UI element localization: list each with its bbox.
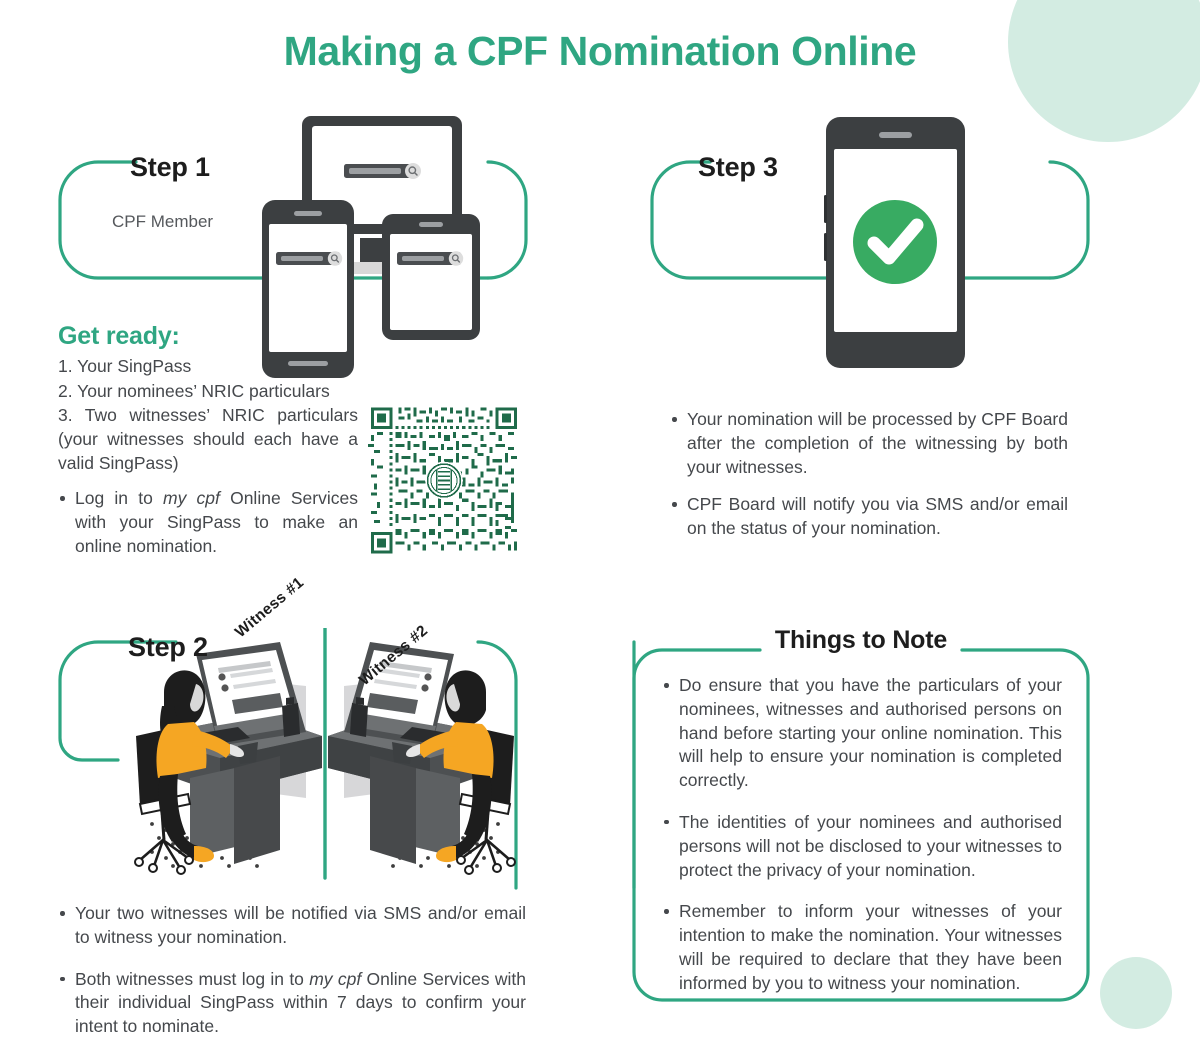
note-bullet-3: Remember to inform your witnesses of you… xyxy=(662,900,1062,995)
mycpf-brand-2: my cpf xyxy=(309,969,361,989)
step2-witnesses-illustration xyxy=(110,628,540,890)
things-to-note-bullets: Do ensure that you have the particulars … xyxy=(662,674,1062,996)
get-ready-item-2: 2. Your nominees’ NRIC particulars xyxy=(58,380,358,404)
get-ready-item-1: 1. Your SingPass xyxy=(58,355,358,379)
step1-sublabel: CPF Member xyxy=(112,212,213,232)
step2-label: Step 2 xyxy=(128,632,208,663)
step3-bullet-2: CPF Board will notify you via SMS and/or… xyxy=(670,493,1068,541)
step3-phone-illustration xyxy=(824,115,967,370)
get-ready-bullets: Log in to my cpf Online Services with yo… xyxy=(58,487,358,558)
things-to-note-title: Things to Note xyxy=(632,626,1090,655)
phone-speaker xyxy=(879,132,912,138)
things-to-note-block: Do ensure that you have the particulars … xyxy=(662,674,1062,996)
get-ready-item-3: 3. Two witnesses’ NRIC particulars (your… xyxy=(58,404,358,475)
get-ready-login-bullet: Log in to my cpf Online Services with yo… xyxy=(58,487,358,558)
get-ready-block: Get ready: 1. Your SingPass 2. Your nomi… xyxy=(58,322,358,559)
infographic-page: Making a CPF Nomination Online Step 1 CP… xyxy=(0,0,1200,1063)
step3-bullets-block: Your nomination will be processed by CPF… xyxy=(670,408,1068,541)
page-title: Making a CPF Nomination Online xyxy=(0,28,1200,75)
mycpf-brand: my cpf xyxy=(163,488,220,508)
note-bullet-2: The identities of your nominees and auth… xyxy=(662,811,1062,882)
step3-label: Step 3 xyxy=(698,152,778,183)
login-text-pre: Log in to xyxy=(75,488,163,508)
phone-volume-button xyxy=(824,195,827,223)
step2-bullets: Your two witnesses will be notified via … xyxy=(58,902,526,1039)
step2-bullet-2: Both witnesses must log in to my cpf Onl… xyxy=(58,968,526,1039)
get-ready-heading: Get ready: xyxy=(58,322,358,351)
step3-bullet-1: Your nomination will be processed by CPF… xyxy=(670,408,1068,479)
note-bullet-1: Do ensure that you have the particulars … xyxy=(662,674,1062,793)
step2-bullet2-pre: Both witnesses must log in to xyxy=(75,969,309,989)
step2-bullets-block: Your two witnesses will be notified via … xyxy=(58,902,526,1039)
witness-1-scene xyxy=(135,642,322,874)
step2-bullet-1: Your two witnesses will be notified via … xyxy=(58,902,526,950)
green-check-circle-icon xyxy=(853,200,937,284)
step3-bullets: Your nomination will be processed by CPF… xyxy=(670,408,1068,541)
tablet-icon xyxy=(382,214,480,340)
step1-label: Step 1 xyxy=(130,152,210,183)
phone-volume-button-2 xyxy=(824,233,827,261)
cpf-qr-code[interactable] xyxy=(368,403,520,558)
decorative-circle-bottom-right xyxy=(1100,957,1172,1029)
